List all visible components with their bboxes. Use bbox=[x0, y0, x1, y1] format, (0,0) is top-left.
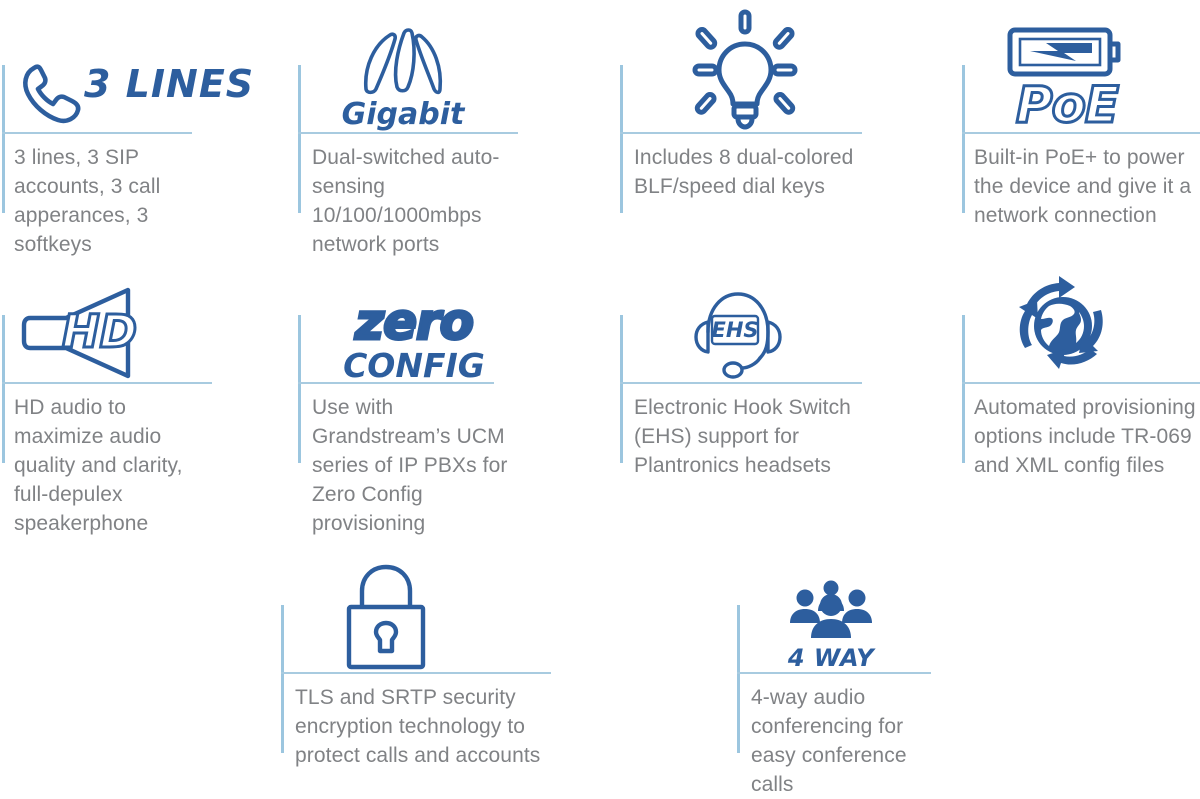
feature-description: Automated provisioning options include T… bbox=[974, 393, 1200, 480]
divider-line bbox=[737, 672, 931, 674]
padlock-icon bbox=[338, 560, 434, 672]
headset-ehs-icon: EHS bbox=[686, 282, 786, 382]
feature-card-gigabit: Gigabit Dual-switched auto-sensing 10/10… bbox=[298, 55, 558, 255]
feature-description: TLS and SRTP security encryption technol… bbox=[295, 683, 557, 770]
divider-line bbox=[2, 382, 212, 384]
wordmark-hd: HD bbox=[62, 305, 137, 382]
globe-arrows-icon bbox=[1005, 270, 1121, 382]
svg-text:EHS: EHS bbox=[711, 318, 758, 342]
feature-description: Use with Grandstream’s UCM series of IP … bbox=[312, 393, 527, 538]
battery-bolt-icon bbox=[1006, 24, 1128, 80]
feature-card-poe: PoE Built-in PoE+ to power the device an… bbox=[962, 55, 1200, 255]
feature-card-security: TLS and SRTP security encryption technol… bbox=[281, 595, 561, 792]
feature-card-blf-keys: Includes 8 dual-colored BLF/speed dial k… bbox=[620, 55, 900, 255]
feature-card-provisioning: Automated provisioning options include T… bbox=[962, 305, 1200, 535]
icon-wordmark-group: HD bbox=[2, 265, 262, 382]
icon-wordmark-group: 3 LINES bbox=[2, 10, 262, 128]
speed-gauge-icon bbox=[352, 23, 454, 95]
divider-line bbox=[962, 382, 1200, 384]
icon-wordmark-group bbox=[281, 540, 561, 672]
wordmark-config: CONFIG bbox=[343, 349, 485, 382]
divider-line bbox=[620, 382, 862, 384]
feature-description: Dual-switched auto-sensing 10/100/1000mb… bbox=[312, 143, 527, 259]
divider-line bbox=[2, 132, 192, 134]
icon-wordmark-group: Gigabit bbox=[298, 5, 558, 132]
people-group-icon bbox=[788, 579, 874, 641]
icon-wordmark-group: 4 WAY bbox=[737, 567, 987, 672]
feature-description: Built-in PoE+ to power the device and gi… bbox=[974, 143, 1200, 230]
feature-card-hd-audio: HD HD audio to maximize audio quality an… bbox=[2, 305, 262, 535]
divider-line bbox=[620, 132, 862, 134]
zero-config-wordmark-icon: zero CONFIG bbox=[343, 297, 485, 382]
feature-card-ehs: EHS Electronic Hook Switch (EHS) support… bbox=[620, 305, 900, 535]
feature-description: 3 lines, 3 SIP accounts, 3 call apperanc… bbox=[14, 143, 204, 259]
feature-description: HD audio to maximize audio quality and c… bbox=[14, 393, 219, 538]
icon-wordmark-group bbox=[962, 260, 1200, 382]
wordmark-zero: zero bbox=[355, 297, 473, 347]
feature-card-conferencing: 4 WAY 4-way audio conferencing for easy … bbox=[737, 595, 987, 792]
phone-handset-icon bbox=[14, 54, 88, 128]
icon-wordmark-group: PoE bbox=[962, 3, 1200, 132]
feature-description: Includes 8 dual-colored BLF/speed dial k… bbox=[634, 143, 882, 201]
icon-wordmark-group bbox=[620, 0, 900, 132]
wordmark-gigabit: Gigabit bbox=[342, 97, 465, 132]
feature-grid: 3 LINES 3 lines, 3 SIP accounts, 3 call … bbox=[0, 0, 1200, 792]
wordmark-three-lines: 3 LINES bbox=[84, 62, 254, 128]
feature-description: Electronic Hook Switch (EHS) support for… bbox=[634, 393, 882, 480]
icon-wordmark-group: zero CONFIG bbox=[298, 277, 558, 382]
feature-card-three-lines: 3 LINES 3 lines, 3 SIP accounts, 3 call … bbox=[2, 55, 262, 255]
feature-description: 4-way audio conferencing for easy confer… bbox=[751, 683, 941, 799]
feature-card-zero-config: zero CONFIG Use with Grandstream’s UCM s… bbox=[298, 305, 558, 535]
lightbulb-icon bbox=[681, 8, 809, 132]
wordmark-four-way: 4 WAY bbox=[788, 644, 874, 672]
divider-line bbox=[298, 132, 518, 134]
divider-line bbox=[281, 672, 551, 674]
icon-wordmark-group: EHS bbox=[620, 265, 900, 382]
wordmark-poe: PoE bbox=[1016, 78, 1118, 132]
